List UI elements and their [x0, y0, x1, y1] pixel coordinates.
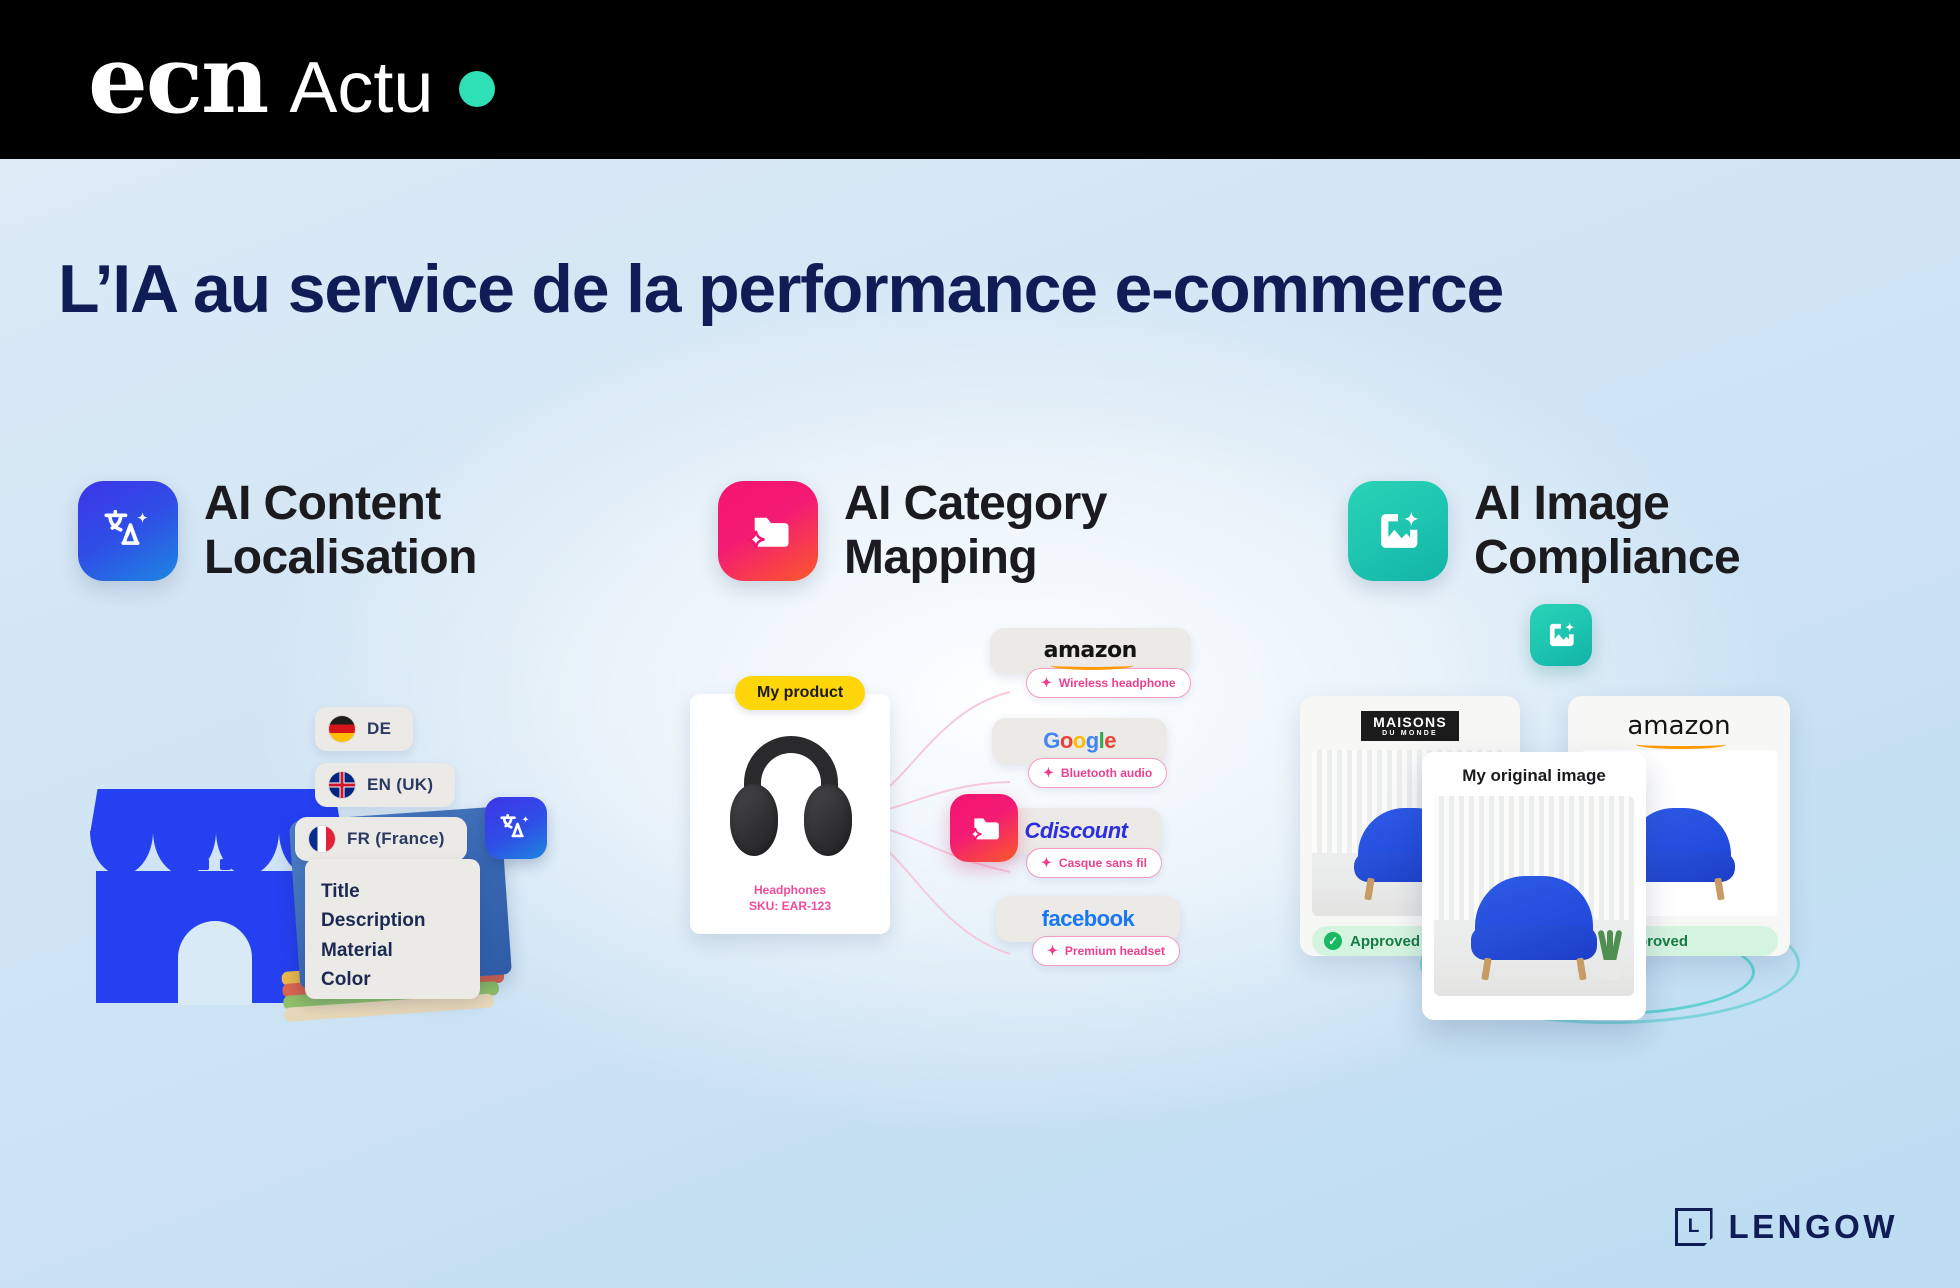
header-bar: ecn Actu	[0, 0, 1960, 159]
marketplace-row-facebook: facebook ✦ Premium headset	[996, 896, 1180, 966]
image-sparkle-badge-icon	[1530, 604, 1592, 666]
sparkle-icon: ✦	[1047, 944, 1058, 957]
shop-logo-row: MAISONS DU MONDE	[1312, 710, 1508, 742]
lengow-logo: L LENGOW	[1675, 1208, 1898, 1246]
google-logo: Google	[1043, 730, 1116, 752]
feature-header-content-localisation: AI Content Localisation	[78, 477, 477, 585]
product-sku: SKU: EAR-123	[690, 898, 890, 914]
product-name: Headphones	[690, 882, 890, 898]
category-chip-label: Premium headset	[1065, 944, 1165, 958]
feature-label: AI Category Mapping	[844, 477, 1107, 585]
category-chip[interactable]: ✦ Premium headset	[1032, 936, 1180, 966]
illustration-image-compliance: MAISONS DU MONDE ✓ Approved	[1300, 604, 1920, 1184]
product-fields-card: Title Description Material Color	[305, 859, 480, 999]
product-card: Headphones SKU: EAR-123	[690, 694, 890, 934]
category-chip[interactable]: ✦ Wireless headphone	[1026, 668, 1191, 698]
amazon-logo: amazon	[1044, 640, 1137, 662]
original-product-image	[1434, 796, 1634, 996]
field-description: Description	[321, 906, 480, 935]
flag-de-icon	[329, 716, 355, 742]
original-image-card: My original image	[1422, 752, 1646, 1020]
pixel-dots-decoration	[132, 809, 282, 899]
check-icon: ✓	[1324, 932, 1342, 950]
shop-logo-row: amazon	[1580, 710, 1778, 742]
brand-secondary-text: Actu	[289, 52, 433, 124]
field-title: Title	[321, 877, 480, 906]
status-badge-label: Approved	[1350, 933, 1420, 950]
sparkle-icon: ✦	[1041, 676, 1052, 689]
original-image-card-title: My original image	[1434, 766, 1634, 786]
blue-armchair	[1469, 876, 1599, 980]
folder-sparkle-badge-icon	[950, 794, 1018, 862]
brand-dot-icon	[459, 71, 495, 107]
sparkle-icon: ✦	[1043, 766, 1054, 779]
brand-primary-text: ecn	[88, 33, 267, 127]
language-chip-de[interactable]: DE	[315, 707, 413, 751]
illustration-category-mapping: Headphones SKU: EAR-123 My product amazo…	[690, 614, 1290, 1174]
product-caption: Headphones SKU: EAR-123	[690, 882, 890, 914]
amazon-smile-icon	[1051, 661, 1133, 670]
language-chip-label: EN (UK)	[367, 775, 433, 795]
field-material: Material	[321, 936, 480, 965]
language-chip-label: DE	[367, 719, 391, 739]
category-chip-label: Wireless headphone	[1059, 676, 1176, 690]
category-chip-label: Casque sans fil	[1059, 856, 1147, 870]
flag-fr-icon	[309, 826, 335, 852]
category-chip[interactable]: ✦ Casque sans fil	[1026, 848, 1162, 878]
language-chip-label: FR (France)	[347, 829, 445, 849]
brand-lockup: ecn Actu	[88, 33, 495, 127]
marketplace-row-amazon: amazon ✦ Wireless headphone	[990, 628, 1191, 698]
shop-name: MAISONS	[1373, 714, 1447, 730]
facebook-logo: facebook	[1042, 908, 1135, 930]
cdiscount-logo: Cdiscount	[1024, 820, 1127, 842]
lengow-wordmark: LENGOW	[1729, 1208, 1898, 1246]
headphones-image	[728, 736, 854, 864]
feature-label: AI Content Localisation	[204, 477, 477, 585]
illustration-content-localisation: DE EN (UK) FR (France) Title Description…	[70, 619, 630, 1179]
language-chip-en[interactable]: EN (UK)	[315, 763, 455, 807]
amazon-smile-icon	[1636, 740, 1727, 749]
category-chip[interactable]: ✦ Bluetooth audio	[1028, 758, 1167, 788]
feature-label: AI Image Compliance	[1474, 477, 1740, 585]
sparkle-icon: ✦	[1041, 856, 1052, 869]
amazon-logo: amazon	[1627, 711, 1730, 741]
translate-sparkle-icon	[78, 481, 178, 581]
folder-sparkle-icon	[718, 481, 818, 581]
flag-uk-icon	[329, 772, 355, 798]
category-chip-label: Bluetooth audio	[1061, 766, 1152, 780]
field-color: Color	[321, 965, 480, 994]
product-badge: My product	[735, 676, 865, 710]
shop-name-sub: DU MONDE	[1373, 730, 1447, 737]
translate-sparkle-badge-icon	[485, 797, 547, 859]
maisons-du-monde-logo: MAISONS DU MONDE	[1361, 711, 1459, 740]
marketplace-row-google: Google ✦ Bluetooth audio	[992, 718, 1167, 788]
plant-decoration	[1596, 928, 1624, 980]
storefront-door	[178, 921, 252, 1005]
page-title: L’IA au service de la performance e-comm…	[58, 254, 1918, 325]
lengow-mark-icon: L	[1675, 1208, 1713, 1246]
image-sparkle-icon	[1348, 481, 1448, 581]
feature-header-category-mapping: AI Category Mapping	[718, 477, 1107, 585]
language-chip-fr[interactable]: FR (France)	[295, 817, 467, 861]
feature-header-image-compliance: AI Image Compliance	[1348, 477, 1740, 585]
slide-canvas: L’IA au service de la performance e-comm…	[0, 159, 1960, 1288]
